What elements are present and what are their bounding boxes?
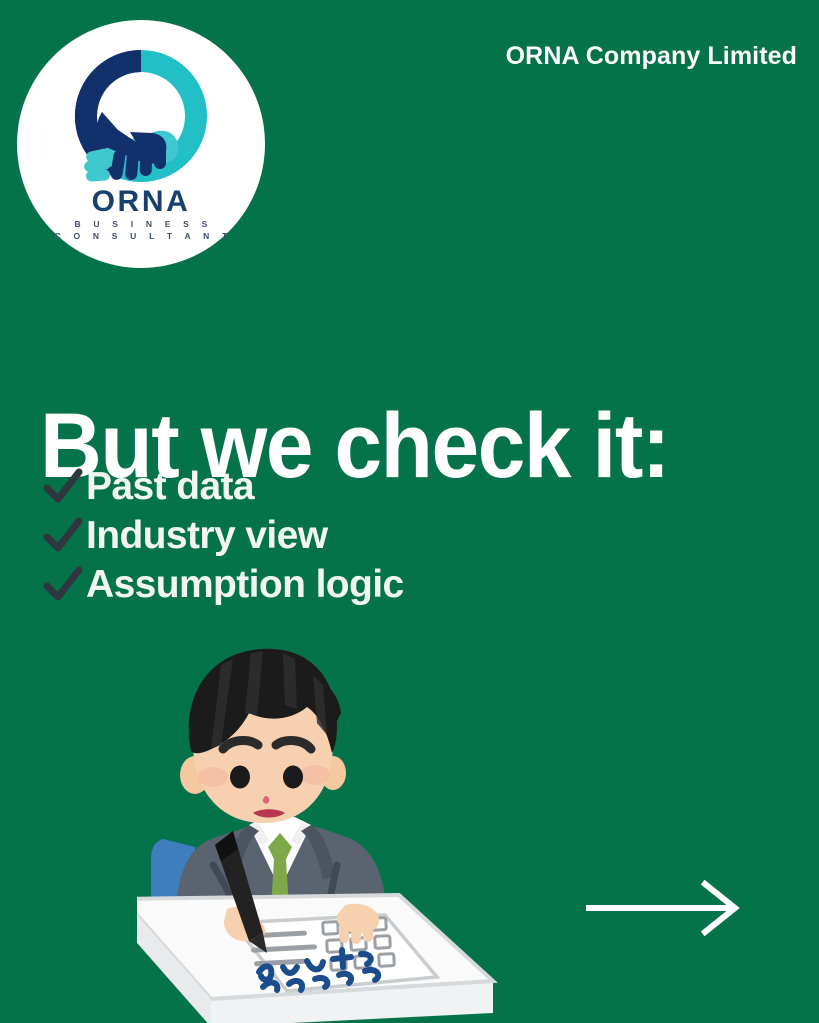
logo-tagline-line1: B U S I N E S S: [17, 218, 265, 230]
logo-word-orna: ORNA: [17, 186, 265, 218]
arrow-right-icon[interactable]: [583, 880, 741, 936]
logo-tagline-line2: C O N S U L T A N T: [17, 230, 265, 242]
list-item-label: Assumption logic: [86, 563, 404, 607]
list-item-label: Industry view: [86, 514, 327, 558]
list-item-label: Past data: [86, 465, 254, 509]
list-item: Assumption logic: [40, 560, 600, 609]
checklist: Past data Industry view Assumption logic: [40, 462, 600, 609]
orna-logo-badge: ORNA B U S I N E S S C O N S U L T A N T: [17, 20, 265, 268]
company-name-header: ORNA Company Limited: [506, 42, 797, 71]
businessman-reviewing-document-illustration: [137, 627, 509, 1023]
orna-wordmark: ORNA B U S I N E S S C O N S U L T A N T: [17, 186, 265, 242]
check-icon: [40, 464, 86, 510]
check-icon: [40, 562, 86, 608]
list-item: Past data: [40, 462, 600, 511]
list-item: Industry view: [40, 511, 600, 560]
check-icon: [40, 513, 86, 559]
orna-handshake-circle-logo-icon: [50, 46, 232, 186]
slide-canvas: ORNA B U S I N E S S C O N S U L T A N T…: [0, 0, 819, 1023]
